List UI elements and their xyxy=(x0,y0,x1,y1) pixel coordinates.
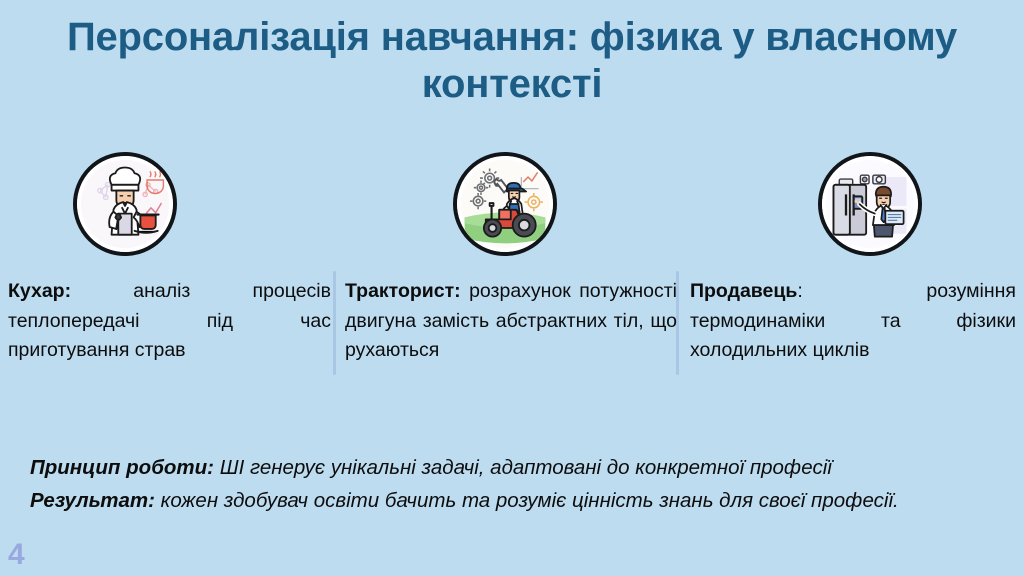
footer-principle-text: ШІ генерує унікальні задачі, адаптовані … xyxy=(214,456,832,479)
page-title: Персоналізація навчання: фізика у власно… xyxy=(40,14,984,108)
salesperson-refrigerator-icon xyxy=(818,152,922,256)
column-divider-1 xyxy=(333,271,336,375)
footer-result-text: кожен здобувач освіти бачить та розуміє … xyxy=(155,489,899,512)
column-tractor-role: Тракторист: xyxy=(345,280,461,302)
footer-principle-label: Принцип роботи: xyxy=(30,456,214,479)
footer-result-line: Результат: кожен здобувач освіти бачить … xyxy=(30,485,998,518)
slide-root: Персоналізація навчання: фізика у власно… xyxy=(0,0,1024,576)
tractor-driver-icon xyxy=(453,152,557,256)
icon-row xyxy=(0,152,1024,260)
footer-principle-line: Принцип роботи: ШІ генерує унікальні зад… xyxy=(30,452,998,485)
column-seller: Продавець: розуміння термодинаміки та фі… xyxy=(690,277,1016,366)
column-tractor: Тракторист: розрахунок потужності двигун… xyxy=(345,277,677,366)
column-seller-role: Продавець xyxy=(690,280,797,302)
column-cook-role: Кухар: xyxy=(8,280,71,302)
footer-result-label: Результат: xyxy=(30,489,155,512)
footer-block: Принцип роботи: ШІ генерує унікальні зад… xyxy=(30,452,998,518)
page-number: 4 xyxy=(8,540,25,570)
chef-cook-icon xyxy=(73,152,177,256)
profession-columns: Кухар: аналіз процесів теплопередачі під… xyxy=(0,277,1024,427)
column-cook: Кухар: аналіз процесів теплопередачі під… xyxy=(8,277,331,366)
